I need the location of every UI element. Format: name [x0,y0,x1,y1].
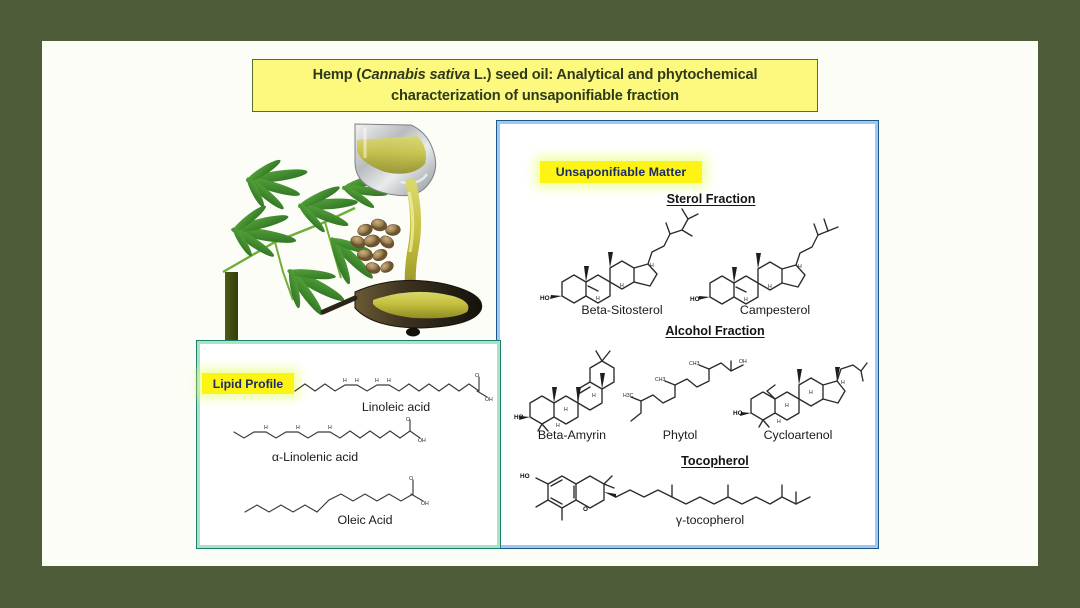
svg-text:H: H [564,407,568,413]
svg-text:H: H [296,425,300,431]
graphical-abstract-figure: Hemp (Cannabis sativa L.) seed oil: Anal… [0,0,1080,608]
figure-title-box: Hemp (Cannabis sativa L.) seed oil: Anal… [252,59,818,112]
page-title: Hemp (Cannabis sativa L.) seed oil: Anal… [303,65,768,106]
svg-text:H: H [620,283,624,289]
gamma-tocopherol-caption: γ-tocopherol [620,513,800,527]
campesterol-structure: HO H H H [690,205,840,305]
photo-illustration [205,122,510,337]
svg-text:H: H [777,419,781,425]
svg-text:H: H [798,264,802,270]
svg-text:O: O [406,417,410,423]
beta-sitosterol-structure: HO H H H [540,200,700,305]
svg-text:H: H [328,425,332,431]
title-line2: characterization of unsaponifiable fract… [391,88,679,104]
svg-text:O: O [583,506,588,513]
svg-text:OH: OH [418,438,426,444]
svg-text:H: H [355,378,359,384]
phytol-structure: H3C CH3 CH3 OH [627,341,747,429]
lipid-profile-tag: Lipid Profile [202,373,294,394]
title-species-italic: Cannabis sativa [361,67,470,83]
phytol-caption: Phytol [635,428,725,442]
svg-text:H: H [343,378,347,384]
cycloartenol-structure: HO H H H H [735,337,870,429]
svg-text:O: O [475,373,479,379]
linoleic-acid-caption: Linoleic acid [296,400,496,414]
svg-text:HO: HO [514,414,524,421]
svg-text:CH3: CH3 [655,377,665,383]
alcohol-fraction-heading: Alcohol Fraction [655,324,775,338]
svg-text:H: H [592,393,596,399]
svg-text:HO: HO [690,296,700,303]
alpha-linolenic-acid-structure: O OH H H H [232,418,427,450]
svg-text:H: H [375,378,379,384]
hemp-oil-photo [205,122,510,337]
svg-text:H: H [596,296,600,302]
svg-text:H: H [387,378,391,384]
svg-text:H: H [768,284,772,290]
svg-text:H: H [650,263,654,269]
svg-text:H: H [785,403,789,409]
svg-text:O: O [409,476,413,482]
beta-amyrin-caption: Beta-Amyrin [512,428,632,442]
campesterol-caption: Campesterol [700,303,850,317]
oil-bottle [355,124,436,196]
svg-text:H: H [809,390,813,396]
svg-text:HO: HO [540,295,550,302]
unsaponifiable-matter-tag: Unsaponifiable Matter [540,161,702,183]
beta-amyrin-structure: HO H H H [516,341,626,431]
cycloartenol-caption: Cycloartenol [738,428,858,442]
oleic-acid-caption: Oleic Acid [300,513,430,527]
title-line1-post: L.) seed oil: Analytical and phytochemic… [470,67,757,83]
svg-text:H3C: H3C [623,393,634,399]
title-line1-pre: Hemp ( [313,67,362,83]
svg-text:HO: HO [733,410,743,417]
beta-sitosterol-caption: Beta-Sitosterol [542,303,702,317]
svg-text:CH3: CH3 [689,361,699,367]
svg-text:HO: HO [520,473,530,480]
svg-text:OH: OH [421,501,429,507]
linoleic-acid-structure: O OH H H H H [293,371,496,403]
alpha-linolenic-acid-caption: α-Linolenic acid [230,450,400,464]
oleic-acid-structure: O OH [243,470,433,516]
svg-text:H: H [841,380,845,386]
wooden-spoon [323,280,482,336]
svg-text:H: H [264,425,268,431]
